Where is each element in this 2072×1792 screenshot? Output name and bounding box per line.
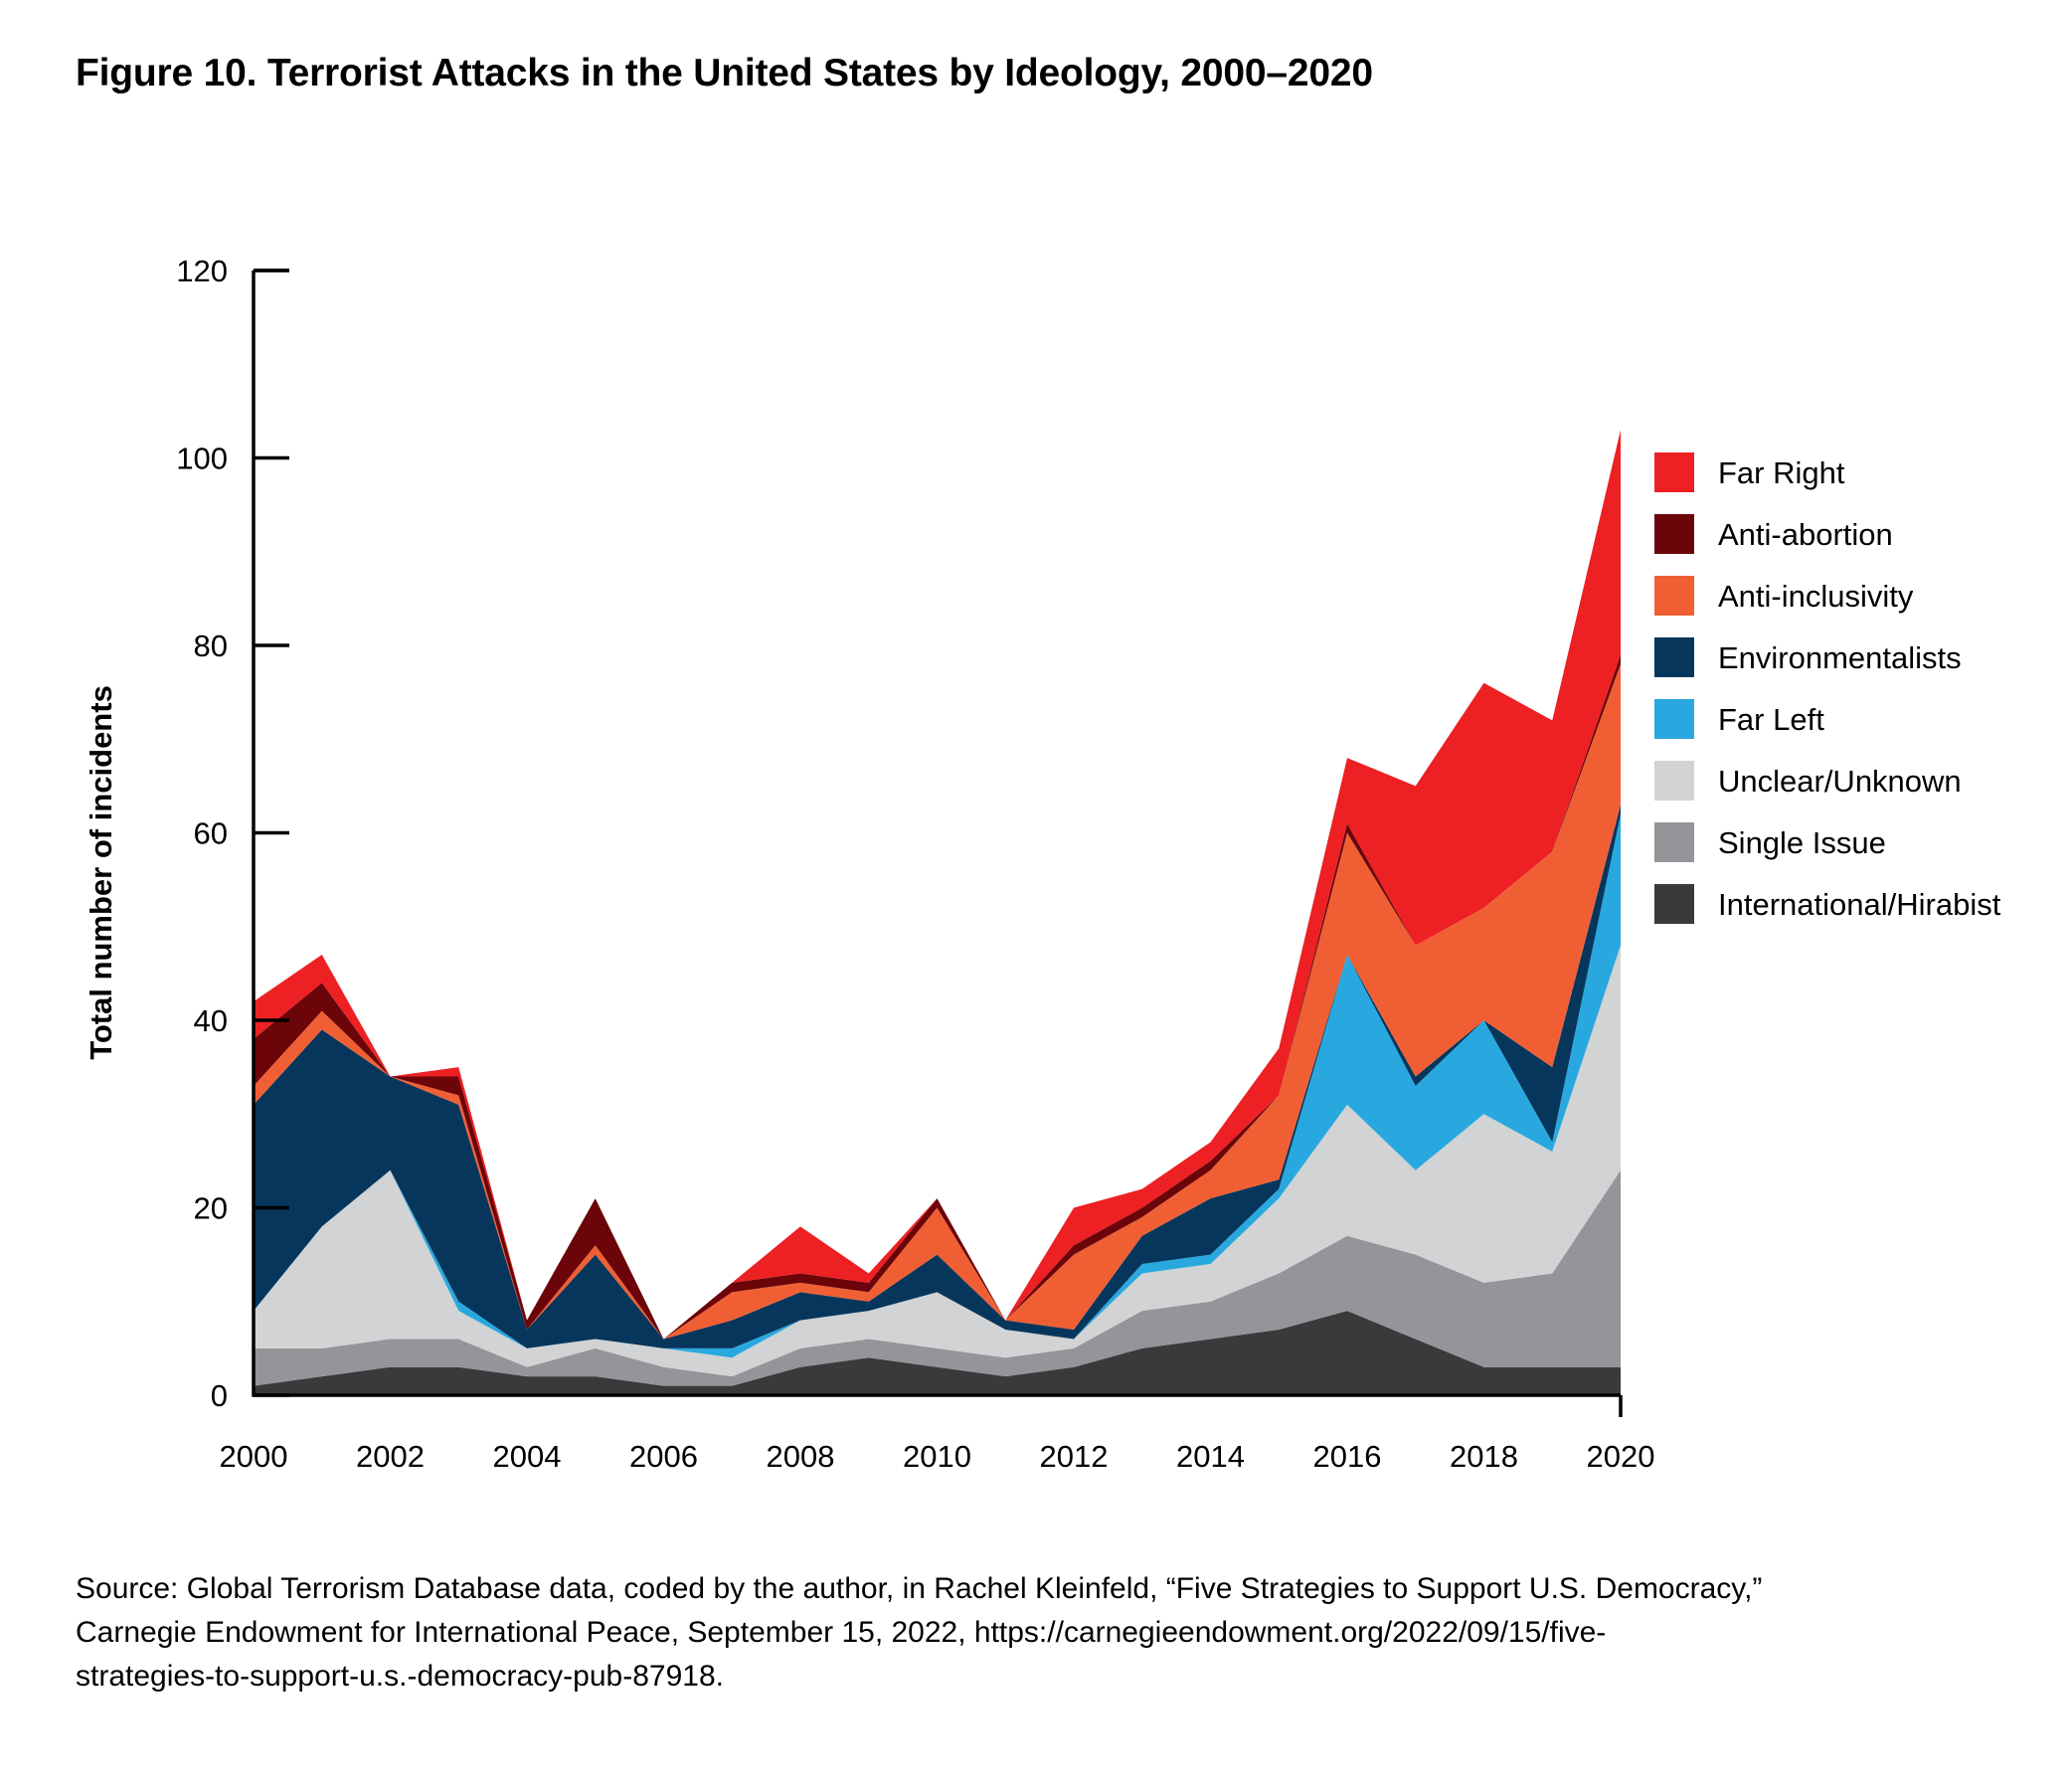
x-tick-label-2014: 2014	[1176, 1439, 1245, 1474]
legend-label-anti-inclusivity: Anti-inclusivity	[1718, 579, 1914, 614]
y-tick-label-80: 80	[194, 628, 228, 663]
x-tick-label-2012: 2012	[1040, 1439, 1109, 1474]
source-line-3: strategies-to-support-u.s.-democracy-pub…	[76, 1655, 1994, 1699]
x-tick-label-2010: 2010	[903, 1439, 971, 1474]
legend-label-far-right: Far Right	[1718, 455, 1845, 490]
legend-swatch-international-hirabist	[1654, 884, 1694, 924]
x-tick-label-2006: 2006	[629, 1439, 698, 1474]
legend-swatch-anti-abortion	[1654, 514, 1694, 554]
stacked-area-chart: 020406080100120 200020022004200620082010…	[0, 179, 2072, 1502]
page-title: Figure 10. Terrorist Attacks in the Unit…	[76, 52, 1373, 95]
legend-label-anti-abortion: Anti-abortion	[1718, 517, 1893, 552]
y-tick-label-40: 40	[194, 1003, 228, 1038]
legend-swatch-environmentalists	[1654, 637, 1694, 677]
x-tick-label-2018: 2018	[1450, 1439, 1518, 1474]
y-tick-label-120: 120	[176, 254, 228, 288]
legend-label-far-left: Far Left	[1718, 702, 1824, 737]
y-axis-title: Total number of incidents	[84, 685, 118, 1060]
legend-swatch-unclear-unknown	[1654, 761, 1694, 801]
x-tick-label-2004: 2004	[493, 1439, 562, 1474]
y-tick-label-100: 100	[176, 442, 228, 476]
x-axis-tick-labels: 2000200220042006200820102012201420162018…	[220, 1439, 1655, 1474]
chart-container: 020406080100120 200020022004200620082010…	[0, 179, 2072, 1502]
y-axis-title-text: Total number of incidents	[84, 685, 118, 1060]
legend-swatch-anti-inclusivity	[1654, 576, 1694, 616]
chart-legend: Far RightAnti-abortionAnti-inclusivityEn…	[1654, 452, 2001, 924]
legend-swatch-far-right	[1654, 452, 1694, 492]
source-note: Source: Global Terrorism Database data, …	[76, 1567, 1994, 1699]
figure-page: Figure 10. Terrorist Attacks in the Unit…	[0, 0, 2072, 1792]
x-tick-label-2000: 2000	[220, 1439, 288, 1474]
source-line-1: Source: Global Terrorism Database data, …	[76, 1567, 1994, 1611]
y-tick-label-0: 0	[211, 1378, 228, 1413]
x-tick-label-2020: 2020	[1587, 1439, 1655, 1474]
y-axis-tick-labels: 020406080100120	[176, 254, 228, 1413]
legend-label-environmentalists: Environmentalists	[1718, 640, 1962, 675]
legend-swatch-single-issue	[1654, 822, 1694, 862]
legend-swatch-far-left	[1654, 699, 1694, 739]
chart-areas	[254, 430, 1621, 1395]
x-tick-label-2016: 2016	[1313, 1439, 1382, 1474]
legend-label-unclear-unknown: Unclear/Unknown	[1718, 764, 1962, 799]
legend-label-international-hirabist: International/Hirabist	[1718, 887, 2001, 922]
source-line-2: Carnegie Endowment for International Pea…	[76, 1611, 1994, 1655]
x-tick-label-2002: 2002	[356, 1439, 425, 1474]
y-tick-label-60: 60	[194, 816, 228, 851]
legend-label-single-issue: Single Issue	[1718, 825, 1886, 860]
y-tick-label-20: 20	[194, 1191, 228, 1226]
x-tick-label-2008: 2008	[767, 1439, 835, 1474]
